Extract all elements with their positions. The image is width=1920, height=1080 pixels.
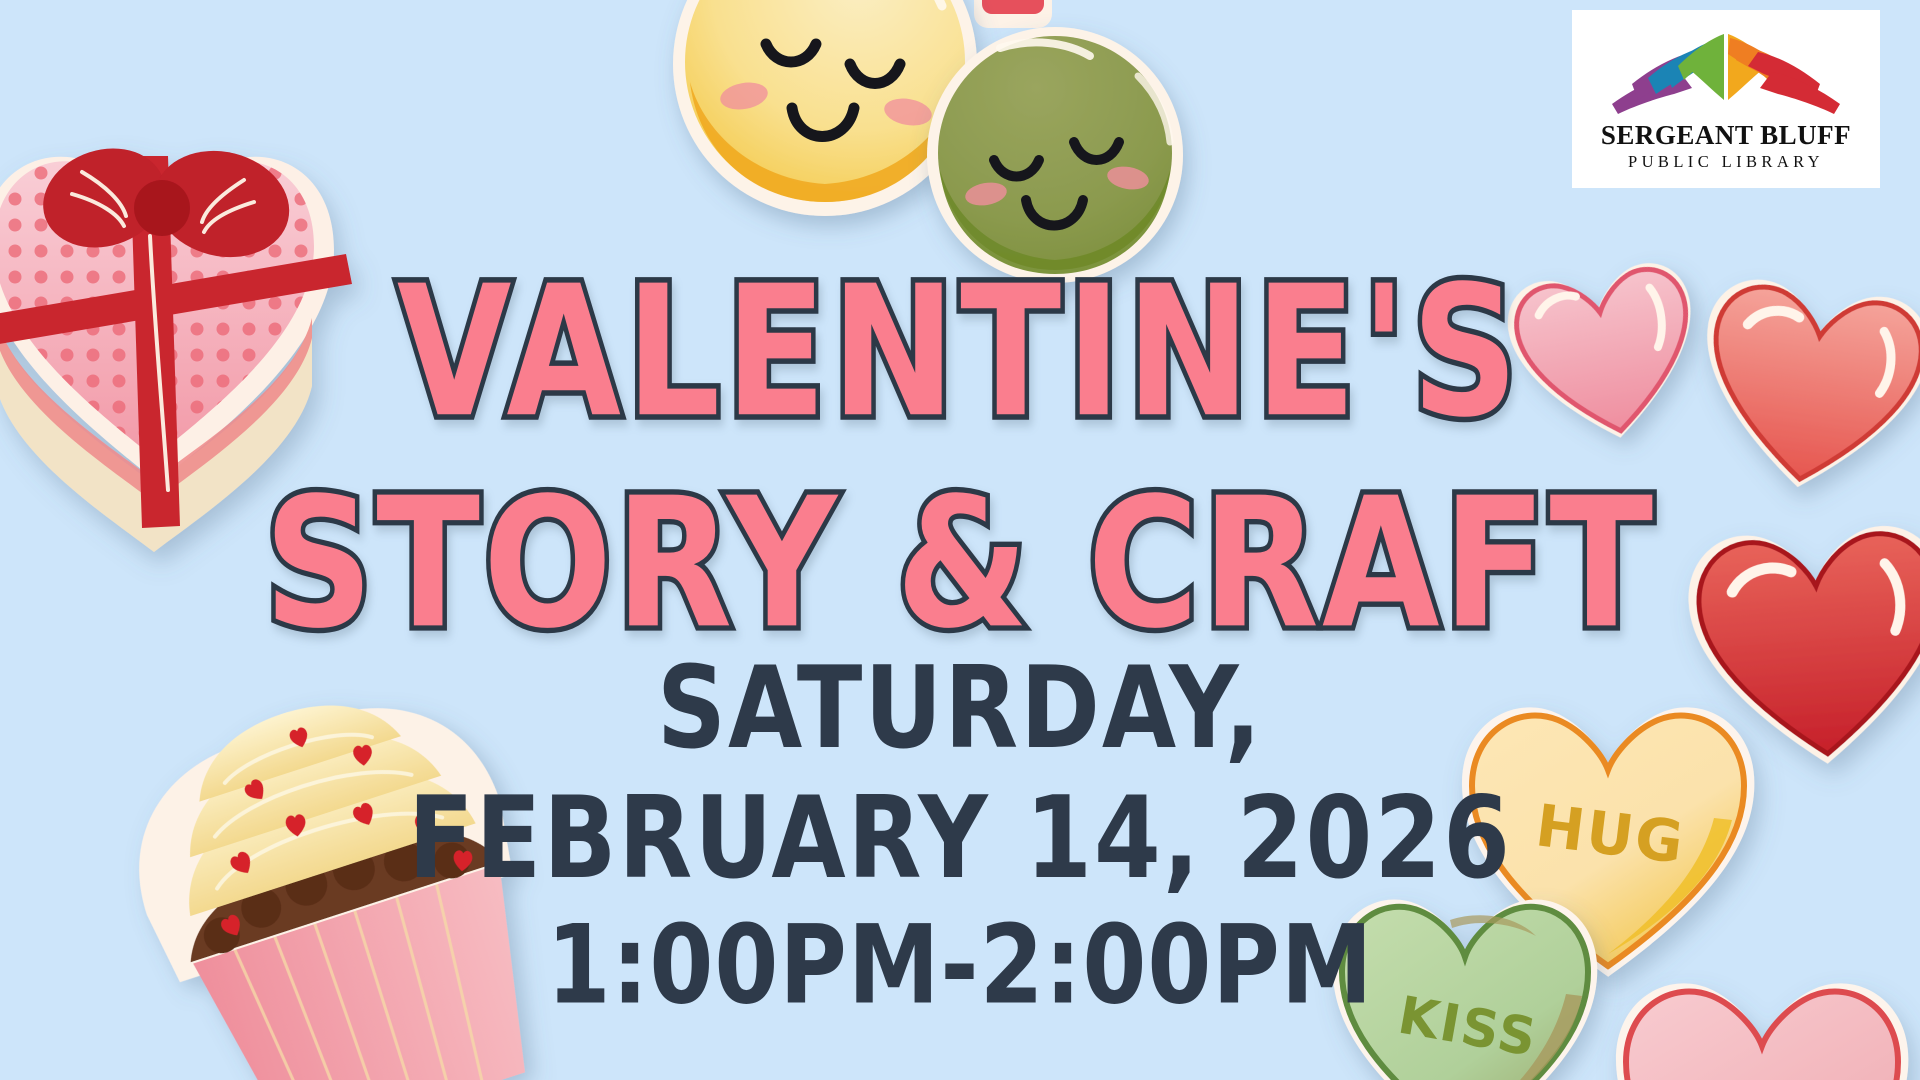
heart-gift-box-sticker — [0, 86, 354, 556]
heart-pink-sticker — [1512, 262, 1702, 442]
logo-library-name: SERGEANT BLUFF — [1601, 122, 1851, 149]
library-logo: SERGEANT BLUFF PUBLIC LIBRARY — [1572, 10, 1880, 188]
valentines-event-poster: HUG KISS — [0, 0, 1920, 1080]
candy-heart-love-sticker: LOVE — [1612, 966, 1912, 1080]
candy-heart-kiss-sticker: KISS — [1330, 884, 1600, 1080]
logo-library-subtitle: PUBLIC LIBRARY — [1628, 154, 1824, 171]
heart-coral-sticker — [1698, 278, 1920, 493]
cupcake-sticker — [110, 700, 580, 1080]
macaron-green-sticker — [920, 20, 1190, 290]
open-book-rainbow-icon — [1608, 28, 1844, 120]
